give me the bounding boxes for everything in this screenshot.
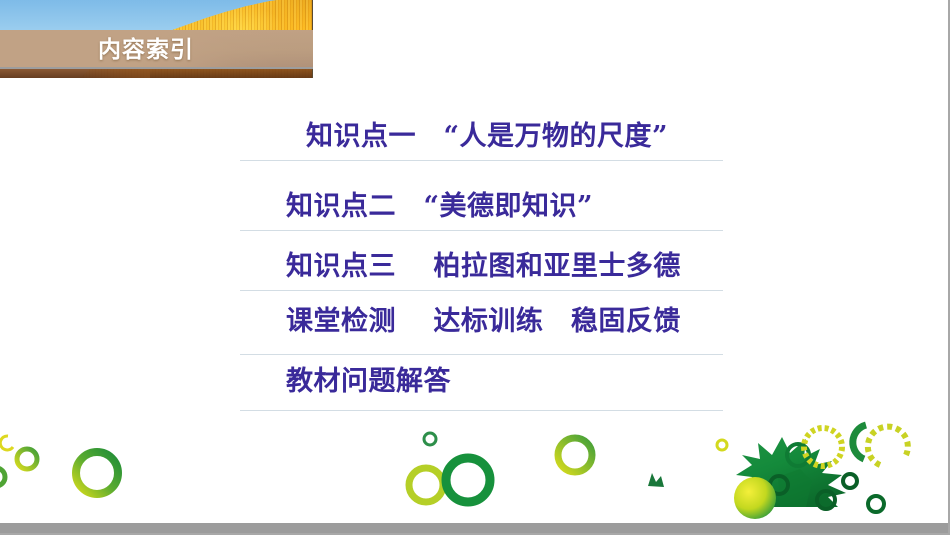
contents-item-5-label: 教材问题解答 [240,355,723,402]
leaf-hole-2 [817,491,835,509]
ring-lightgreen-center [409,468,443,502]
contents-item-2[interactable]: 知识点二 “美德即知识” [240,161,723,231]
contents-item-4-label: 课堂检测 达标训练 稳固反馈 [240,291,723,341]
contents-item-2-label: 知识点二 “美德即知识” [240,161,723,227]
ring-yellow-right-2 [868,427,908,465]
sprout-center [648,473,664,487]
contents-item-3[interactable]: 知识点三 柏拉图和亚里士多德 [240,231,723,291]
leaf-hole-1 [770,476,788,494]
leaf-hole-4 [787,444,809,466]
ring-green-large-left [76,452,118,494]
ring-small-yellow-left [0,436,13,450]
contents-item-3-label: 知识点三 柏拉图和亚里士多德 [240,231,723,287]
ring-outline-right [868,496,884,512]
ring-tiny-center [424,433,436,445]
ring-edge-left [0,468,5,486]
ring-white-right [894,482,916,504]
contents-item-5[interactable]: 教材问题解答 [240,355,723,411]
ring-yellow-center [558,438,592,472]
ring-green-yellow-left [17,449,37,469]
ring-green-center [446,458,490,502]
contents-item-4[interactable]: 课堂检测 达标训练 稳固反馈 [240,291,723,355]
contents-item-1-label: 知识点一 “人是万物的尺度” [240,112,723,157]
contents-item-1[interactable]: 知识点一 “人是万物的尺度” [240,112,723,161]
ring-yellow-right-1 [804,428,842,466]
leaf-hole-3 [843,474,857,488]
ring-micro-right-center [717,440,727,450]
ring-green-right-arc [853,425,866,459]
contents-list: 知识点一 “人是万物的尺度” 知识点二 “美德即知识” 知识点三 柏拉图和亚里士… [240,112,723,411]
presentation-slide: 内容索引 知识点一 “人是万物的尺度” 知识点二 “美德即知识” 知识点三 柏拉… [0,0,950,535]
maple-leaf-right [736,437,846,507]
banner-title: 内容索引 [98,31,194,67]
bottom-decoration [0,403,950,523]
bottom-status-bar [0,523,950,533]
glow-ball-right [734,477,776,519]
